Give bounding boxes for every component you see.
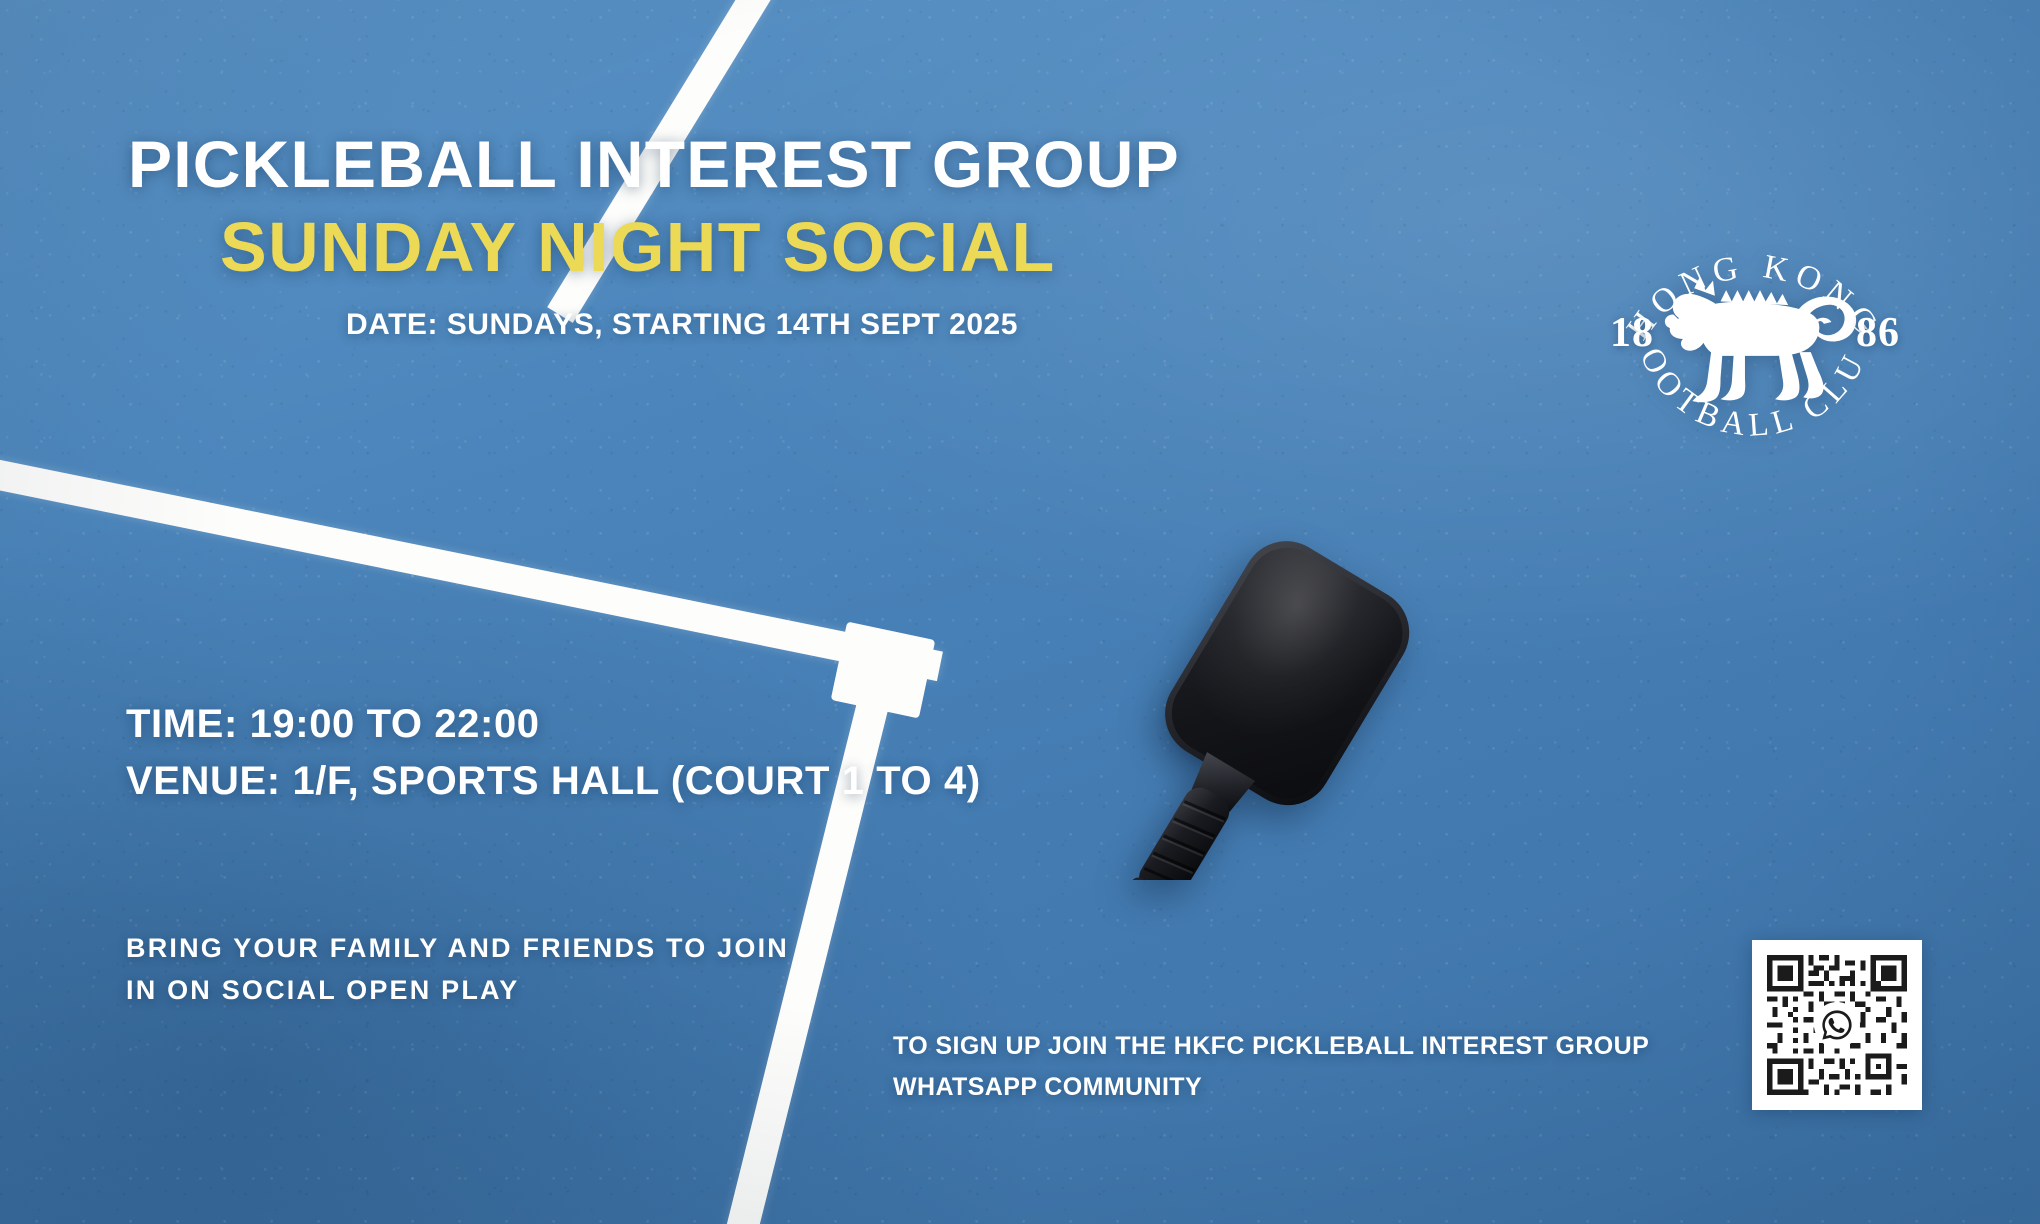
whatsapp-qr-code[interactable]	[1752, 940, 1922, 1110]
page-subtitle: SUNDAY NIGHT SOCIAL	[220, 210, 1180, 284]
page-title: PICKLEBALL INTEREST GROUP	[128, 130, 1180, 200]
event-time: TIME: 19:00 TO 22:00	[126, 700, 981, 749]
signup-line-1: TO SIGN UP JOIN THE HKFC PICKLEBALL INTE…	[893, 1030, 1649, 1063]
event-details-block: TIME: 19:00 TO 22:00 VENUE: 1/F, SPORTS …	[126, 700, 981, 814]
whatsapp-icon	[1814, 1002, 1860, 1048]
invite-line-2: IN ON SOCIAL OPEN PLAY	[126, 972, 789, 1008]
pickleball-paddle	[1055, 540, 1475, 880]
headline-block: PICKLEBALL INTEREST GROUP SUNDAY NIGHT S…	[128, 130, 1180, 342]
signup-line-2: WHATSAPP COMMUNITY	[893, 1071, 1649, 1104]
event-date: DATE: SUNDAYS, STARTING 14TH SEPT 2025	[346, 308, 1180, 342]
event-venue: VENUE: 1/F, SPORTS HALL (COURT 1 TO 4)	[126, 757, 981, 806]
pickleball-equipment-group	[1055, 540, 1475, 880]
invite-line-1: BRING YOUR FAMILY AND FRIENDS TO JOIN	[126, 930, 789, 966]
invite-block: BRING YOUR FAMILY AND FRIENDS TO JOIN IN…	[126, 930, 789, 1014]
crest-year-left: 18	[1610, 309, 1654, 357]
hkfc-club-crest: HONG KONG FOOTBALL CLUB	[1604, 196, 1904, 468]
crest-year-right: 86	[1856, 309, 1900, 357]
poster-canvas: PICKLEBALL INTEREST GROUP SUNDAY NIGHT S…	[0, 0, 2040, 1224]
signup-instruction-block: TO SIGN UP JOIN THE HKFC PICKLEBALL INTE…	[893, 1030, 1649, 1112]
